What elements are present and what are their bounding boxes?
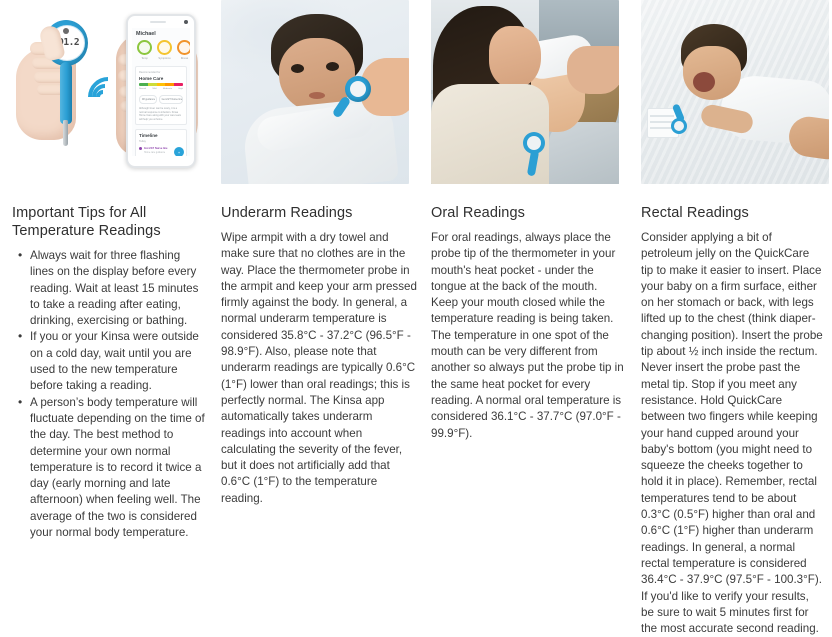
column-heading-important-tips: Important Tips for All Temperature Readi… <box>12 204 205 240</box>
app-timeline-card: Timeline Today Got 24/7 Nurse line Home … <box>135 129 187 156</box>
column-important-tips: 101.2 <box>0 0 217 606</box>
oral-readings-body: For oral readings, always place the prob… <box>431 230 627 442</box>
severity-scale-labels: Normal Mild Moderate High <box>139 87 183 92</box>
hero-illustration-thermometer-and-phone: 101.2 <box>8 0 213 186</box>
column-heading-underarm-readings: Underarm Readings <box>221 204 417 222</box>
card-title: Home Care <box>139 76 183 81</box>
chip-guidance[interactable]: 98 guidance <box>139 95 157 104</box>
app-action-chips: 98 guidance Get 24/7 Nurse line <box>139 95 183 104</box>
card-eyebrow: Recommended for <box>139 70 183 75</box>
timeline-title: Timeline <box>139 133 183 138</box>
severity-label: High <box>179 87 184 92</box>
columns-container: 101.2 <box>0 0 832 606</box>
severity-label: Normal <box>139 87 146 92</box>
rectal-readings-body: Consider applying a bit of petroleum jel… <box>641 230 824 637</box>
thermometer-metal-tip <box>63 120 68 146</box>
phone-app-screen: Michael Temp Symptoms Illness Rec <box>132 28 190 156</box>
column-heading-rectal-readings: Rectal Readings <box>641 204 824 222</box>
column-heading-oral-readings: Oral Readings <box>431 204 627 222</box>
photo-underarm-reading <box>221 0 409 184</box>
thermometer-stem <box>60 62 72 124</box>
app-status-rings: Temp Symptoms Illness <box>137 40 190 61</box>
status-ring-label: Illness <box>177 56 190 61</box>
app-user-name: Michael <box>136 32 190 37</box>
thermometer-usage-guide-page: 101.2 <box>0 0 832 606</box>
list-item: Always wait for three flashing lines on … <box>12 248 205 329</box>
add-button-icon[interactable]: + <box>174 147 184 156</box>
thermometer-in-photo <box>671 118 687 134</box>
app-home-care-card: Recommended for Home Care Normal Mild Mo… <box>135 66 187 125</box>
severity-label: Moderate <box>163 87 172 92</box>
severity-scale-bar <box>139 83 183 86</box>
photo-rectal-reading <box>641 0 829 184</box>
column-underarm-readings: Underarm Readings Wipe armpit with a dry… <box>217 0 427 606</box>
thermometer-in-photo <box>523 132 545 154</box>
severity-label: Mild <box>152 87 156 92</box>
phone-camera-icon <box>184 20 188 24</box>
timeline-bullet-icon <box>139 147 142 150</box>
important-tips-list: Always wait for three flashing lines on … <box>12 248 205 541</box>
status-ring-illness <box>177 40 190 55</box>
column-oral-readings: Oral Readings For oral readings, always … <box>427 0 637 606</box>
phone-speaker <box>150 21 166 23</box>
list-item: A person’s body temperature will fluctua… <box>12 395 205 542</box>
column-rectal-readings: Rectal Readings Consider applying a bit … <box>637 0 832 606</box>
status-ring-symptoms <box>157 40 172 55</box>
photo-oral-reading <box>431 0 619 184</box>
status-ring-temp <box>137 40 152 55</box>
timeline-subtitle: Today <box>139 139 183 144</box>
thermometer-in-photo <box>345 76 371 102</box>
card-paragraph: Although fever can be scary, it is a nor… <box>139 107 183 121</box>
underarm-readings-body: Wipe armpit with a dry towel and make su… <box>221 230 417 507</box>
status-ring-label: Symptoms <box>157 56 172 61</box>
list-item: If you or your Kinsa were outside on a c… <box>12 329 205 394</box>
status-ring-label: Temp <box>137 56 152 61</box>
smartphone: Michael Temp Symptoms Illness Rec <box>126 14 196 168</box>
chip-nurse-line[interactable]: Get 24/7 Nurse line <box>159 95 183 104</box>
